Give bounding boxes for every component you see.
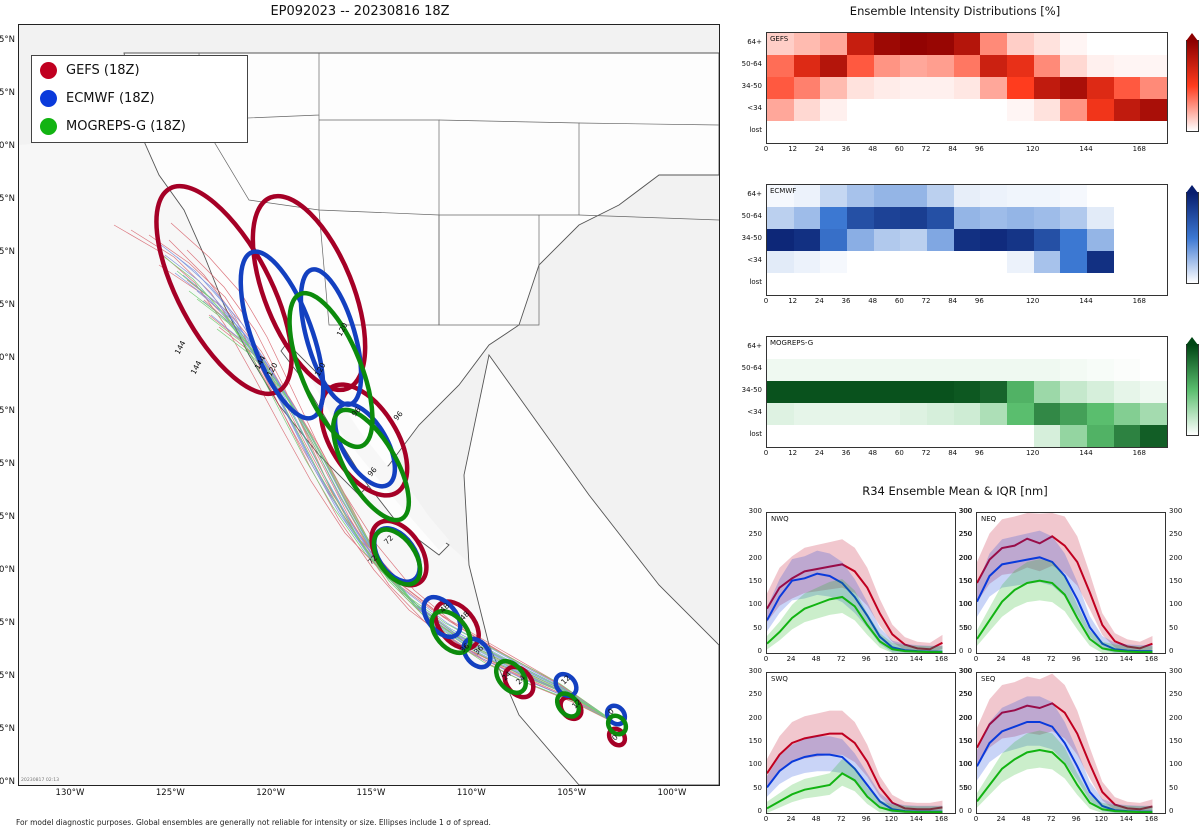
legend-color-dot-ecmwf (40, 90, 57, 107)
heatmap-cell (980, 229, 1007, 251)
heatmap-cell (954, 185, 981, 207)
r34-x-tick: 144 (1115, 815, 1137, 823)
r34-x-tick: 120 (880, 815, 902, 823)
heatmap-cell (820, 381, 847, 403)
colorbar-arrow-icon (1186, 185, 1198, 193)
heatmap-cell (1087, 425, 1114, 447)
r34-x-tick: 24 (780, 815, 802, 823)
heatmap-cell (847, 55, 874, 77)
heatmap-cell (900, 207, 927, 229)
heatmap-cell (954, 359, 981, 381)
r34-x-tick: 120 (1090, 815, 1112, 823)
heatmap-cell (1087, 77, 1114, 99)
heatmap-cell (1114, 381, 1141, 403)
r34-plot-nwq[interactable]: NWQ (766, 512, 956, 654)
heatmap-y-tick: lost (722, 278, 762, 286)
r34-x-tick: 96 (855, 655, 877, 663)
heatmap-x-tick: 48 (861, 145, 885, 153)
heatmap-cell (794, 359, 821, 381)
heatmap-cell (1060, 99, 1087, 121)
heatmap-x-tick: 84 (941, 449, 965, 457)
heatmap-x-tick: 0 (754, 297, 778, 305)
heatmap-cell (1007, 77, 1034, 99)
heatmap-cell (847, 403, 874, 425)
heatmap-cell (847, 185, 874, 207)
heatmap-cell (1034, 207, 1061, 229)
heatmap-y-tick: <34 (722, 104, 762, 112)
heatmap-x-tick: 60 (887, 145, 911, 153)
heatmap-cell (900, 229, 927, 251)
r34-y-tick-mirror: 300 (950, 667, 972, 675)
heatmap-cell (1087, 55, 1114, 77)
heatmap-cell (1034, 55, 1061, 77)
r34-y-tick-mirror: 150 (950, 577, 972, 585)
heatmap-cell (1007, 229, 1034, 251)
r34-x-tick: 144 (905, 655, 927, 663)
heatmap-cell (980, 55, 1007, 77)
heatmap-cell (847, 381, 874, 403)
heatmap-cell (1034, 33, 1061, 55)
heatmap-x-tick: 72 (914, 145, 938, 153)
heatmap-cell (954, 55, 981, 77)
heatmap-cell (874, 381, 901, 403)
heatmap-cell (927, 185, 954, 207)
heatmap-x-tick: 36 (834, 145, 858, 153)
heatmap-x-tick: 96 (967, 449, 991, 457)
heatmap-cell (1007, 55, 1034, 77)
r34-y-tick: 100 (740, 760, 762, 768)
heatmap-x-tick: 36 (834, 297, 858, 305)
heatmap-cell (1140, 77, 1167, 99)
heatmap-cell (980, 403, 1007, 425)
heatmap-cell (1034, 381, 1061, 403)
heatmap-y-tick: 34-50 (722, 234, 762, 242)
map-lat-tick: 30°N (0, 353, 15, 363)
heatmap-cell (874, 207, 901, 229)
legend-item-mogreps: MOGREPS-G (18Z) (32, 112, 247, 140)
r34-y-tick: 200 (1169, 714, 1193, 722)
heatmap-cell (847, 229, 874, 251)
heatmap-cell (767, 359, 794, 381)
r34-x-tick: 72 (830, 815, 852, 823)
heatmap-cell (1034, 185, 1061, 207)
r34-y-tick: 150 (740, 737, 762, 745)
r34-y-tick-mirror: 0 (950, 807, 972, 815)
heatmap-cell (927, 403, 954, 425)
heatmap-x-tick: 144 (1074, 449, 1098, 457)
heatmap-x-tick: 12 (781, 297, 805, 305)
heatmap-cell (820, 33, 847, 55)
legend-color-dot-mogreps (40, 118, 57, 135)
heatmap-cell (980, 359, 1007, 381)
heatmap-y-tick: lost (722, 430, 762, 438)
heatmap-x-tick: 168 (1127, 449, 1151, 457)
heatmap-x-tick: 0 (754, 449, 778, 457)
heatmap-cell (874, 229, 901, 251)
heatmap-cell (954, 229, 981, 251)
heatmap-cell (820, 185, 847, 207)
heatmap-cell (794, 403, 821, 425)
heatmap-cell (954, 207, 981, 229)
r34-lines (977, 513, 1165, 653)
heatmap-cell (954, 77, 981, 99)
r34-y-tick-mirror: 250 (950, 530, 972, 538)
r34-y-tick: 200 (740, 714, 762, 722)
heatmap-y-tick: <34 (722, 256, 762, 264)
r34-x-tick: 144 (1115, 655, 1137, 663)
heatmap-y-tick: 50-64 (722, 364, 762, 372)
map-lat-tick: 17.5°N (0, 618, 15, 628)
r34-y-tick: 50 (740, 624, 762, 632)
heatmap-cell (767, 229, 794, 251)
r34-x-tick: 48 (1015, 655, 1037, 663)
heatmap-model-label: ECMWF (770, 187, 796, 195)
heatmap-x-tick: 96 (967, 297, 991, 305)
heatmap-cell (900, 77, 927, 99)
r34-x-tick: 96 (1065, 815, 1087, 823)
r34-lines (977, 673, 1165, 813)
heatmap-cell (1140, 403, 1167, 425)
map-lon-tick: 100°W (652, 788, 692, 798)
heatmap-cell (1034, 359, 1061, 381)
legend-label-mogreps: MOGREPS-G (18Z) (66, 119, 186, 134)
heatmap-y-tick: 64+ (722, 342, 762, 350)
heatmap-cell (1034, 99, 1061, 121)
heatmap-x-tick: 60 (887, 297, 911, 305)
r34-x-tick: 24 (990, 655, 1012, 663)
r34-x-tick: 168 (1140, 655, 1162, 663)
heatmap-cell (1087, 359, 1114, 381)
heatmap-cell (1114, 403, 1141, 425)
heatmap-x-tick: 120 (1021, 449, 1045, 457)
r34-y-tick-mirror: 150 (950, 737, 972, 745)
heatmap-cell (1034, 425, 1061, 447)
legend-item-ecmwf: ECMWF (18Z) (32, 84, 247, 112)
heatmap-cell (1140, 381, 1167, 403)
heatmap-cell (1087, 381, 1114, 403)
heatmap-cell (820, 77, 847, 99)
map-lon-tick: 115°W (351, 788, 391, 798)
heatmap-cell (927, 77, 954, 99)
heatmap-y-tick: 64+ (722, 38, 762, 46)
r34-x-tick: 168 (1140, 815, 1162, 823)
heatmap-cell (1060, 207, 1087, 229)
heatmap-cell (794, 381, 821, 403)
r34-x-tick: 72 (1040, 815, 1062, 823)
heatmap-cell (980, 207, 1007, 229)
heatmap-cell (820, 55, 847, 77)
heatmap-cell (1034, 77, 1061, 99)
heatmap-cell (954, 403, 981, 425)
legend-label-gefs: GEFS (18Z) (66, 63, 140, 78)
heatmap-cell (1060, 381, 1087, 403)
r34-lines (767, 513, 955, 653)
heatmap-cell (820, 207, 847, 229)
heatmap-cell (1087, 207, 1114, 229)
heatmap-cell (927, 55, 954, 77)
heatmap-x-tick: 120 (1021, 145, 1045, 153)
heatmap-cell (794, 55, 821, 77)
heatmap-cell (1007, 251, 1034, 273)
heatmap-cell (980, 381, 1007, 403)
heatmap-cell (1034, 251, 1061, 273)
forecast-track-map[interactable]: 144 144 144 120 120 120 96 96 96 72 72 4… (18, 24, 720, 786)
heatmap-cell (954, 33, 981, 55)
heatmap-x-tick: 144 (1074, 297, 1098, 305)
heatmap-y-tick: <34 (722, 408, 762, 416)
r34-x-tick: 72 (830, 655, 852, 663)
heatmap-cell (900, 33, 927, 55)
heatmap-cell (1060, 77, 1087, 99)
heatmap-x-tick: 48 (861, 297, 885, 305)
r34-y-tick: 150 (740, 577, 762, 585)
map-lat-tick: 15°N (0, 671, 15, 681)
map-lat-tick: 10°N (0, 777, 15, 787)
heatmap-y-tick: lost (722, 126, 762, 134)
heatmap-ecmwf[interactable]: ECMWF (766, 184, 1168, 296)
heatmap-y-tick: 50-64 (722, 60, 762, 68)
r34-x-tick: 120 (1090, 655, 1112, 663)
r34-y-tick: 100 (740, 600, 762, 608)
r34-y-tick: 100 (1169, 600, 1193, 608)
heatmap-x-tick: 168 (1127, 297, 1151, 305)
heatmap-cell (1007, 207, 1034, 229)
heatmap-cell (1007, 33, 1034, 55)
heatmap-cell (767, 207, 794, 229)
r34-y-tick: 150 (1169, 737, 1193, 745)
heatmap-cell (874, 185, 901, 207)
heatmap-cell (794, 251, 821, 273)
heatmap-cell (1060, 403, 1087, 425)
heatmap-model-label: GEFS (770, 35, 788, 43)
heatmap-cell (1114, 55, 1141, 77)
timestamp-stamp: 20230817 02:13 (21, 778, 59, 783)
r34-x-tick: 24 (990, 815, 1012, 823)
heatmap-mogreps-g[interactable]: MOGREPS-G (766, 336, 1168, 448)
r34-y-tick: 150 (1169, 577, 1193, 585)
map-lat-tick: 45°N (0, 35, 15, 45)
heatmap-cell (980, 33, 1007, 55)
heatmap-cell (874, 77, 901, 99)
heatmap-cell (980, 185, 1007, 207)
heatmap-y-tick: 34-50 (722, 386, 762, 394)
r34-x-tick: 48 (805, 815, 827, 823)
r34-y-tick: 50 (740, 784, 762, 792)
legend-item-gefs: GEFS (18Z) (32, 56, 247, 84)
heatmap-cell (1140, 55, 1167, 77)
heatmap-cell (927, 229, 954, 251)
map-lat-tick: 35°N (0, 247, 15, 257)
heatmap-cell (847, 33, 874, 55)
heatmap-cell (900, 55, 927, 77)
heatmap-cell (820, 99, 847, 121)
heatmap-cell (1114, 99, 1141, 121)
r34-y-tick: 50 (1169, 624, 1193, 632)
r34-y-tick-mirror: 100 (950, 760, 972, 768)
map-lat-tick: 20°N (0, 565, 15, 575)
r34-y-tick: 0 (740, 647, 762, 655)
map-lon-tick: 120°W (251, 788, 291, 798)
heatmap-cell (874, 359, 901, 381)
r34-panel-title: R34 Ensemble Mean & IQR [nm] (730, 484, 1180, 498)
heatmap-cell (1114, 77, 1141, 99)
r34-y-tick: 300 (1169, 507, 1193, 515)
heatmap-gefs[interactable]: GEFS (766, 32, 1168, 144)
heatmap-cell (1114, 425, 1141, 447)
heatmap-x-tick: 84 (941, 297, 965, 305)
heatmap-cell (1114, 359, 1141, 381)
heatmap-cell (1087, 229, 1114, 251)
heatmap-cell (1060, 229, 1087, 251)
heatmap-cell (1087, 99, 1114, 121)
r34-plot-neq[interactable]: NEQ (976, 512, 1166, 654)
heatmap-cell (1034, 229, 1061, 251)
heatmap-x-tick: 36 (834, 449, 858, 457)
heatmap-cell (1060, 185, 1087, 207)
heatmap-cell (900, 185, 927, 207)
heatmap-x-tick: 84 (941, 145, 965, 153)
heatmap-cell (820, 403, 847, 425)
heatmap-cell (1140, 99, 1167, 121)
r34-y-tick: 100 (1169, 760, 1193, 768)
heatmap-cell (820, 251, 847, 273)
r34-x-tick: 96 (1065, 655, 1087, 663)
heatmap-cell (1007, 381, 1034, 403)
heatmap-cell (874, 33, 901, 55)
r34-x-tick: 48 (1015, 815, 1037, 823)
heatmap-cell (900, 381, 927, 403)
r34-x-tick: 0 (755, 655, 777, 663)
heatmap-y-tick: 64+ (722, 190, 762, 198)
heatmap-x-tick: 12 (781, 145, 805, 153)
footer-note: For model diagnostic purposes. Global en… (16, 818, 491, 827)
r34-x-tick: 168 (930, 815, 952, 823)
heatmap-cell (767, 381, 794, 403)
legend-label-ecmwf: ECMWF (18Z) (66, 91, 155, 106)
r34-y-tick: 250 (740, 690, 762, 698)
heatmap-cell (1060, 55, 1087, 77)
r34-x-tick: 24 (780, 655, 802, 663)
heatmap-cell (767, 77, 794, 99)
heatmap-cell (1060, 251, 1087, 273)
r34-x-tick: 0 (755, 815, 777, 823)
heatmap-x-tick: 120 (1021, 297, 1045, 305)
heatmap-cell (927, 207, 954, 229)
heatmap-cell (767, 403, 794, 425)
heatmap-x-tick: 144 (1074, 145, 1098, 153)
heatmap-cell (874, 55, 901, 77)
heatmap-cell (1140, 425, 1167, 447)
heatmap-x-tick: 168 (1127, 145, 1151, 153)
r34-x-tick: 96 (855, 815, 877, 823)
heatmap-x-tick: 48 (861, 449, 885, 457)
r34-y-tick-mirror: 200 (950, 714, 972, 722)
map-lon-tick: 125°W (150, 788, 190, 798)
heatmap-cell (900, 359, 927, 381)
heatmap-cell (847, 359, 874, 381)
r34-plot-seq[interactable]: SEQ (976, 672, 1166, 814)
r34-lines (767, 673, 955, 813)
legend-color-dot-gefs (40, 62, 57, 79)
heatmap-cell (794, 185, 821, 207)
heatmap-cell (927, 33, 954, 55)
r34-x-tick: 0 (965, 655, 987, 663)
heatmap-cell (927, 381, 954, 403)
r34-y-tick-mirror: 100 (950, 600, 972, 608)
colorbar-arrow-icon (1186, 337, 1198, 345)
r34-y-tick-mirror: 300 (950, 507, 972, 515)
heatmap-x-tick: 0 (754, 145, 778, 153)
heatmap-cell (794, 207, 821, 229)
heatmap-x-tick: 72 (914, 449, 938, 457)
r34-y-tick: 50 (1169, 784, 1193, 792)
heatmap-cell (820, 359, 847, 381)
r34-plot-swq[interactable]: SWQ (766, 672, 956, 814)
heatmap-x-tick: 60 (887, 449, 911, 457)
heatmap-cell (1060, 33, 1087, 55)
heatmap-cell (820, 229, 847, 251)
heatmap-colorbar (1186, 344, 1199, 436)
intensity-panel-title: Ensemble Intensity Distributions [%] (730, 4, 1180, 18)
heatmap-cell (1087, 251, 1114, 273)
heatmap-cell (767, 99, 794, 121)
heatmap-colorbar (1186, 192, 1199, 284)
heatmap-x-tick: 24 (807, 449, 831, 457)
heatmap-cell (1007, 359, 1034, 381)
r34-y-tick: 0 (740, 807, 762, 815)
heatmap-model-label: MOGREPS-G (770, 339, 813, 347)
map-lon-tick: 105°W (552, 788, 592, 798)
r34-y-tick: 250 (1169, 530, 1193, 538)
r34-y-tick-mirror: 50 (950, 784, 972, 792)
heatmap-cell (767, 251, 794, 273)
map-lat-tick: 37.5°N (0, 194, 15, 204)
r34-y-tick-mirror: 50 (950, 624, 972, 632)
heatmap-cell (847, 77, 874, 99)
heatmap-x-tick: 12 (781, 449, 805, 457)
r34-y-tick: 300 (1169, 667, 1193, 675)
heatmap-cell (794, 33, 821, 55)
r34-y-tick: 300 (740, 667, 762, 675)
r34-y-tick-mirror: 200 (950, 554, 972, 562)
heatmap-colorbar (1186, 40, 1199, 132)
r34-x-tick: 48 (805, 655, 827, 663)
heatmap-cell (1034, 403, 1061, 425)
heatmap-cell (1060, 425, 1087, 447)
heatmap-cell (954, 381, 981, 403)
r34-y-tick: 250 (1169, 690, 1193, 698)
heatmap-cell (1007, 185, 1034, 207)
heatmap-cell (1007, 99, 1034, 121)
heatmap-cell (1060, 359, 1087, 381)
heatmap-cell (874, 403, 901, 425)
heatmap-cell (980, 77, 1007, 99)
heatmap-cell (1007, 403, 1034, 425)
heatmap-x-tick: 72 (914, 297, 938, 305)
heatmap-cell (794, 77, 821, 99)
map-lat-tick: 25°N (0, 459, 15, 469)
map-lat-tick: 40°N (0, 141, 15, 151)
r34-y-tick-mirror: 0 (950, 647, 972, 655)
colorbar-arrow-icon (1186, 33, 1198, 41)
r34-x-tick: 120 (880, 655, 902, 663)
heatmap-x-tick: 24 (807, 145, 831, 153)
r34-y-tick: 200 (1169, 554, 1193, 562)
heatmap-y-tick: 50-64 (722, 212, 762, 220)
heatmap-cell (927, 359, 954, 381)
r34-y-tick: 200 (740, 554, 762, 562)
r34-x-tick: 72 (1040, 655, 1062, 663)
